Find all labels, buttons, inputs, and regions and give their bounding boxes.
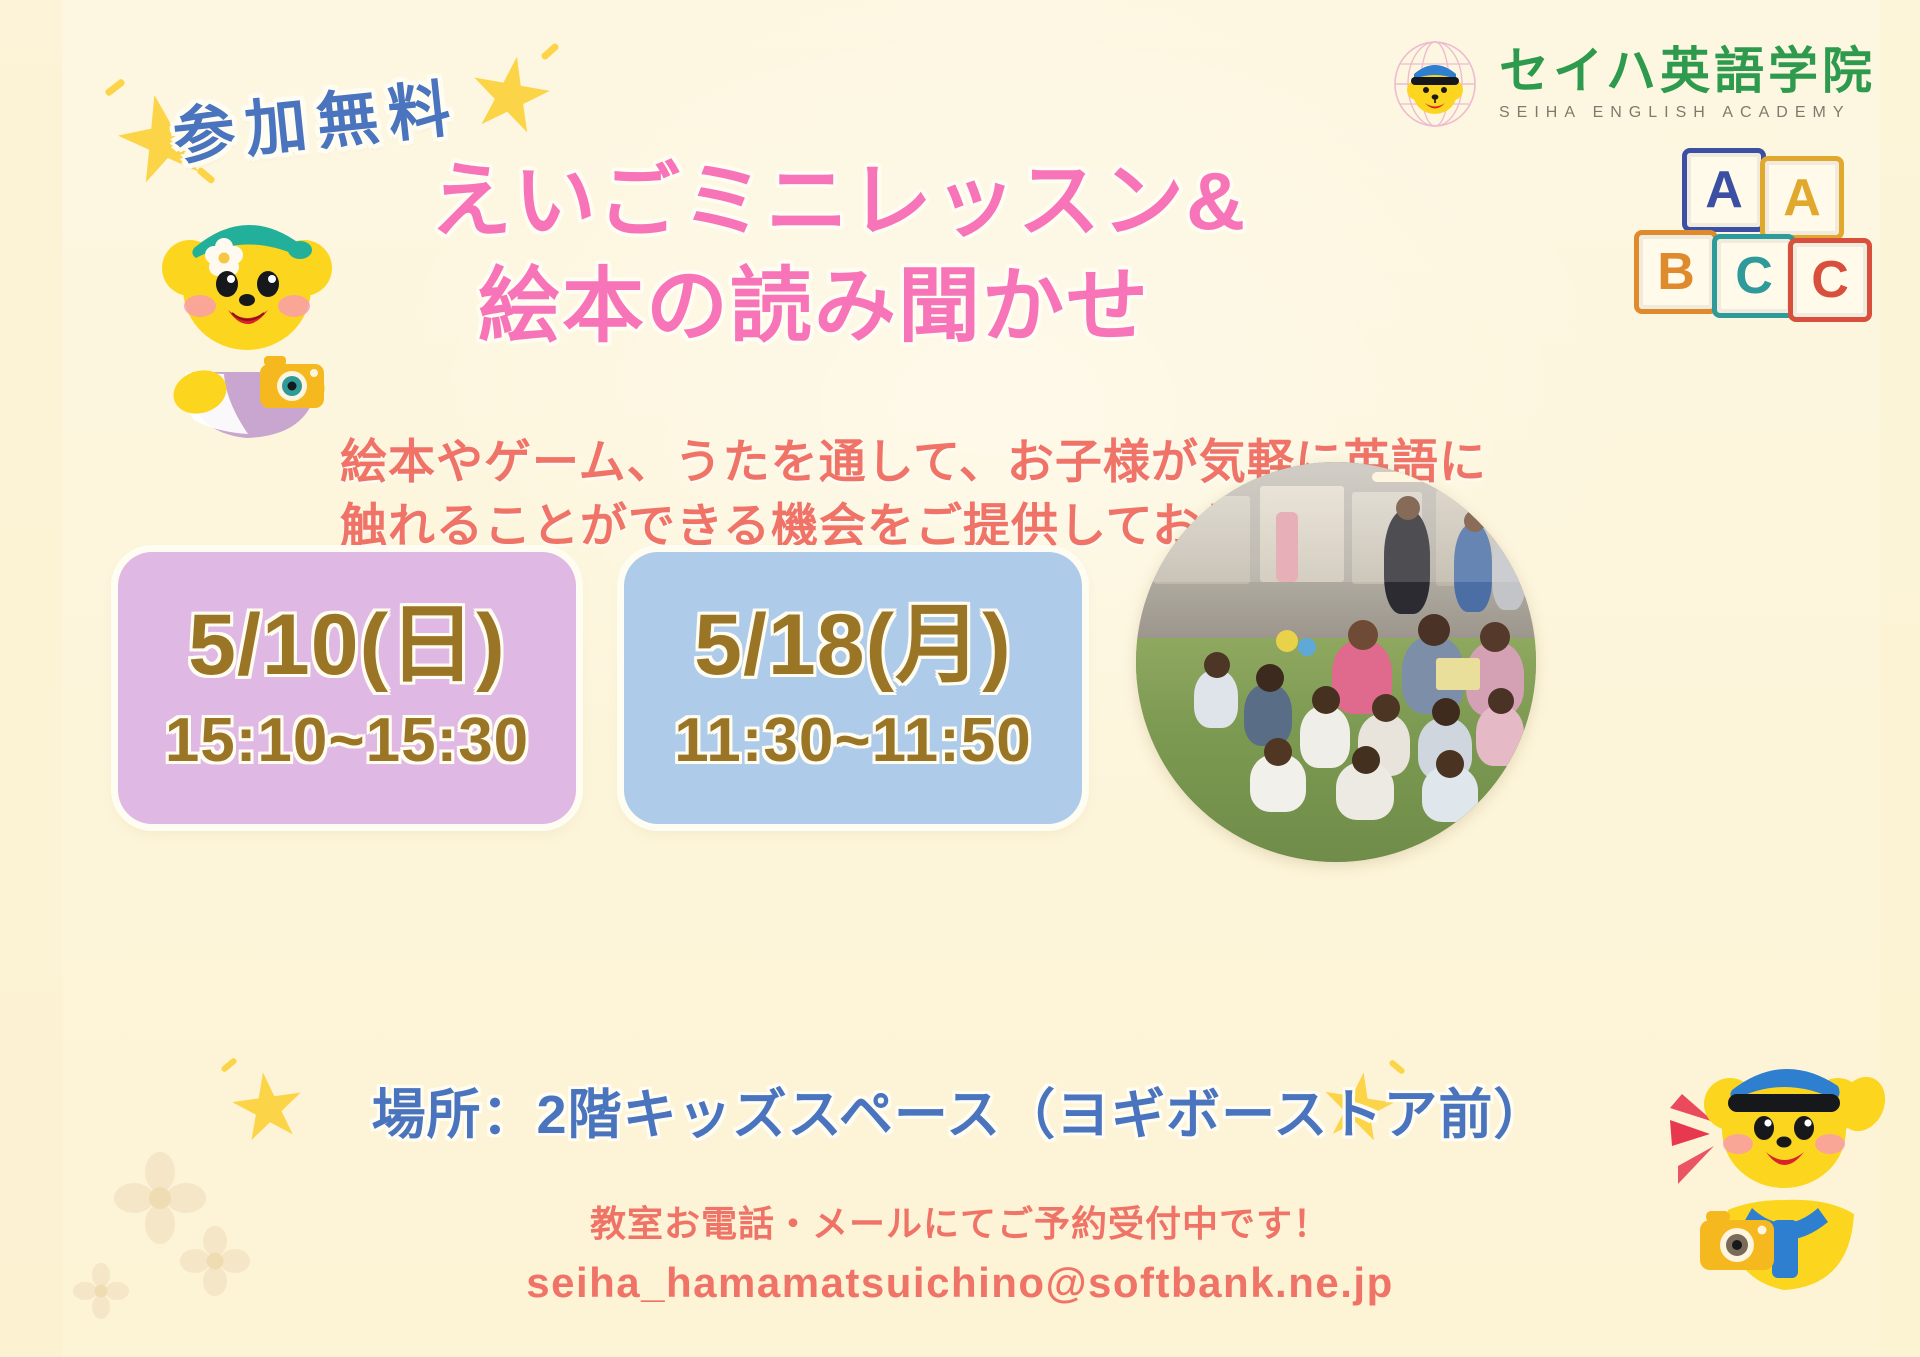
session-2-time: 11:30~11:50 [674,705,1032,776]
block-a-gold: A [1760,156,1844,240]
session-card-1[interactable]: 5/10(日) 15:10~15:30 [118,552,576,824]
location-text: 場所：2階キッズスペース（ヨギボーストア前） [372,1070,1549,1149]
contact-info: 教室お電話・メールにてご予約受付中です！ seiha_hamamatsuichi… [0,1195,1920,1307]
bear-mascot-camera-left [128,196,358,446]
photo-child-head-7 [1264,738,1292,766]
title-line-1: えいごミニレッスン& [430,150,1430,255]
logo-jp-name: セイハ英語学院 [1499,46,1876,96]
photo-light-sheen [1136,462,1536,582]
photo-child-head-5 [1432,698,1460,726]
photo-toy-balloon-2 [1298,638,1316,656]
photo-child-head-2 [1256,664,1284,692]
flyer-canvas: セイハ英語学院 SEIHA ENGLISH ACADEMY A A B C C … [0,0,1920,1357]
block-c-red: C [1788,238,1872,322]
sparkle-icon-badge-right-a [540,42,560,61]
photo-child-head-8 [1352,746,1380,774]
reservation-note: 教室お電話・メールにてご予約受付中です！ [0,1195,1920,1247]
session-card-2[interactable]: 5/18(月) 11:30~11:50 [624,552,1082,824]
photo-child-6 [1476,706,1524,766]
photo-child-2 [1244,684,1292,746]
photo-child-head-1 [1204,652,1230,678]
logo-en-name: SEIHA ENGLISH ACADEMY [1499,104,1876,122]
event-photo [1136,462,1536,862]
photo-child-1 [1194,670,1238,728]
free-participation-badge: 参加無料 [168,57,464,177]
logo-text: セイハ英語学院 SEIHA ENGLISH ACADEMY [1499,46,1876,122]
photo-child-head-3 [1312,686,1340,714]
location-banner: 場所：2階キッズスペース（ヨギボーストア前） [0,1070,1920,1149]
abc-alphabet-blocks: A A B C C [1628,148,1868,348]
globe-bear-icon [1389,38,1481,130]
flower-decor-2 [178,1224,252,1303]
session-cards: 5/10(日) 15:10~15:30 5/18(月) 11:30~11:50 [118,552,1082,824]
block-a-blue: A [1682,148,1766,232]
photo-child-head-4 [1372,694,1400,722]
flower-decor-3 [72,1262,130,1325]
photo-seated-head-2 [1418,614,1450,646]
session-2-date: 5/18(月) [694,600,1012,690]
photo-child-head-9 [1436,750,1464,778]
seiha-logo: セイハ英語学院 SEIHA ENGLISH ACADEMY [1389,38,1876,130]
photo-toy-balloon-1 [1276,630,1298,652]
star-icon-badge-right [464,50,557,143]
left-edge-band [0,0,62,1357]
photo-picture-book [1436,658,1480,690]
contact-email[interactable]: seiha_hamamatsuichino@softbank.ne.jp [0,1259,1920,1307]
bear-mascot-camera-right [1648,1042,1898,1312]
session-1-date: 5/10(日) [188,600,506,690]
photo-seated-head-1 [1348,620,1378,650]
session-1-time: 15:10~15:30 [165,705,529,776]
block-c-teal: C [1712,234,1796,318]
main-title: えいごミニレッスン& 絵本の読み聞かせ [430,150,1430,360]
photo-child-head-6 [1488,688,1514,714]
title-line-2: 絵本の読み聞かせ [478,255,1430,360]
sparkle-icon-badge-left-a [104,78,126,97]
photo-seated-head-3 [1480,622,1510,652]
block-b-orange: B [1634,230,1718,314]
photo-child-3 [1300,706,1350,768]
